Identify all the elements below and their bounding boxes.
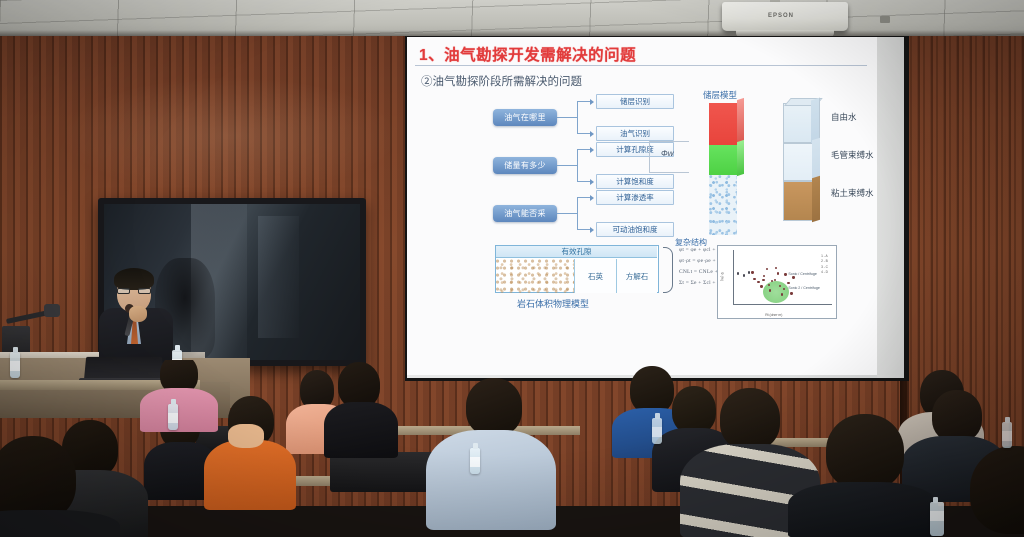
problem-flowchart: 油气在哪里 储层识别 油气识别 储量有多少 计算孔隙度 计算饱和度 油气能否采 (493, 95, 675, 235)
flow-arrow-icon (590, 179, 594, 185)
head (932, 390, 982, 442)
water-bottle (652, 418, 662, 444)
flow-connector (577, 229, 591, 230)
flow-connector (577, 149, 578, 182)
slide-title: 1、油气勘探开发需解决的问题 (419, 43, 636, 65)
chart-data-point (757, 281, 759, 283)
head (228, 424, 264, 448)
chart-y-axis (733, 250, 734, 305)
water-label-capillary: 毛管束缚水 (831, 149, 874, 161)
lecture-room-photo: EPSON 1、油气勘探开发需解决的问题 ②油气勘探阶段所需解决的问题 油气在哪… (0, 0, 1024, 537)
reservoir-segment-gas (709, 145, 737, 175)
flow-arrow-icon (590, 195, 594, 201)
bottle-label (652, 427, 662, 437)
chart-data-point (753, 278, 755, 280)
flow-sub-node-2b: 计算饱和度 (596, 174, 674, 189)
rock-model-pore-cell (496, 259, 574, 293)
reservoir-segment-oil (709, 103, 737, 145)
ceiling-projector: EPSON (722, 2, 848, 31)
chart-data-point (792, 276, 794, 278)
chart-x-axis-label: Rt (ohm·m) (765, 313, 782, 317)
flow-connector (557, 165, 577, 166)
reservoir-model-label: 储层模型 (703, 89, 737, 101)
chart-data-point (781, 293, 783, 295)
flow-connector (557, 213, 577, 214)
glasses-lens-left (117, 288, 130, 294)
title-divider (415, 65, 867, 66)
reservoir-segment-matrix (709, 175, 737, 235)
flow-main-node-2: 储量有多少 (493, 157, 557, 174)
chart-data-point (766, 268, 768, 270)
rock-model-caption: 岩石体积物理模型 (517, 297, 589, 310)
flow-sub-node-1b: 油气识别 (596, 126, 674, 141)
head (630, 366, 674, 414)
flow-arrow-icon (590, 131, 594, 137)
bottle-label (470, 457, 480, 467)
chart-annotation-2: Sonic 2 / Centrifuge (788, 286, 820, 291)
flow-connector (557, 117, 577, 118)
chart-data-point (762, 279, 764, 281)
chart-data-point (775, 267, 777, 269)
camera-head-icon (44, 304, 60, 317)
flow-connector (577, 101, 591, 102)
wall-light-reflection (60, 76, 400, 196)
water-label-free: 自由水 (831, 111, 857, 123)
screen-blank-margin (877, 37, 904, 378)
water-bottle (930, 502, 944, 536)
chart-data-point (790, 292, 792, 294)
chart-data-point (784, 273, 786, 275)
flow-main-node-1: 油气在哪里 (493, 109, 557, 126)
head (826, 414, 904, 490)
slide-subtitle: ②油气勘探阶段所需解决的问题 (421, 73, 582, 89)
chart-data-point (763, 275, 765, 277)
flow-connector (577, 101, 578, 134)
torso (426, 430, 556, 530)
ceiling-vent-icon (880, 16, 890, 23)
tv-reflection-secondary (258, 216, 299, 338)
head (466, 378, 522, 436)
glasses-lens-right (138, 288, 151, 294)
chart-legend: 1 - A 2 - B 3 - C 4 - D (821, 254, 828, 276)
water-bottle (1002, 422, 1012, 448)
chart-cluster-blob (763, 281, 789, 303)
bottle-label (168, 413, 178, 423)
reservoir-model-diagram: 储层模型 Φw 复杂结构 (697, 89, 767, 249)
flow-sub-node-3b: 可动油饱和度 (596, 222, 674, 237)
chair-back (330, 452, 440, 492)
chart-y-axis-label: Φ (%) (720, 272, 724, 281)
rock-volume-model: 有效孔隙 石英 方解石 岩石体积物理模型 φt = φe + φcl + ...… (495, 245, 675, 315)
chart-data-point (787, 282, 789, 284)
presentation-slide: 1、油气勘探开发需解决的问题 ②油气勘探阶段所需解决的问题 油气在哪里 储层识别… (407, 37, 877, 375)
rock-model-calcite-cell: 方解石 (616, 259, 657, 293)
flow-connector (577, 133, 591, 134)
phi-symbol-label: Φw (661, 149, 673, 158)
glasses-icon (117, 288, 151, 294)
flow-arrow-icon (590, 147, 594, 153)
projector-brand-label: EPSON (768, 13, 794, 19)
presenter-hair (114, 268, 154, 290)
water-segment-capillary (783, 143, 813, 181)
equation-brace (663, 247, 673, 293)
audience-area (0, 360, 1024, 537)
water-segment-clay (783, 181, 813, 221)
bottle-label (930, 511, 944, 521)
water-column (783, 103, 813, 221)
flow-arrow-icon (590, 227, 594, 233)
flow-sub-node-1a: 储层识别 (596, 94, 674, 109)
chart-data-point (769, 289, 771, 291)
head (720, 388, 780, 450)
rock-model-header: 有效孔隙 (496, 246, 657, 258)
chart-data-point (748, 271, 750, 273)
bottle-label (1002, 431, 1012, 441)
chart-x-axis (733, 304, 832, 305)
rock-model-box: 有效孔隙 石英 方解石 (495, 245, 659, 293)
torso (140, 388, 218, 432)
chart-data-point (743, 274, 745, 276)
flow-connector (577, 181, 591, 182)
flow-sub-node-3a: 计算渗透率 (596, 190, 674, 205)
water-bottle (168, 404, 178, 430)
mini-scatter-chart: Φ (%) 1 - A 2 - B 3 - C 4 - D Sonic / Ce… (717, 245, 837, 319)
torso (204, 440, 296, 510)
chart-data-point (751, 271, 753, 273)
flow-connector (577, 149, 591, 150)
chart-data-point (777, 272, 779, 274)
chart-data-point (760, 285, 762, 287)
chart-data-point (737, 272, 739, 274)
flow-main-node-3: 油气能否采 (493, 205, 557, 222)
flow-arrow-icon (590, 99, 594, 105)
water-type-diagram: 自由水 毛管束缚水 粘土束缚水 (779, 95, 875, 235)
reservoir-column (709, 103, 737, 235)
water-segment-free (783, 103, 813, 143)
flow-connector (577, 197, 591, 198)
chart-legend-item: 4 - D (821, 270, 828, 275)
presenter-hand (129, 306, 147, 322)
chart-data-point (774, 279, 776, 281)
water-label-clay: 粘土束缚水 (831, 187, 874, 199)
torso (788, 482, 938, 537)
torso (324, 402, 398, 458)
rock-model-quartz-cell: 石英 (574, 259, 616, 293)
chart-plot-area: 1 - A 2 - B 3 - C 4 - D Sonic / Centrifu… (734, 251, 831, 304)
water-bottle (470, 448, 480, 474)
head (672, 386, 716, 434)
torso (0, 510, 120, 537)
flow-connector (577, 197, 578, 230)
